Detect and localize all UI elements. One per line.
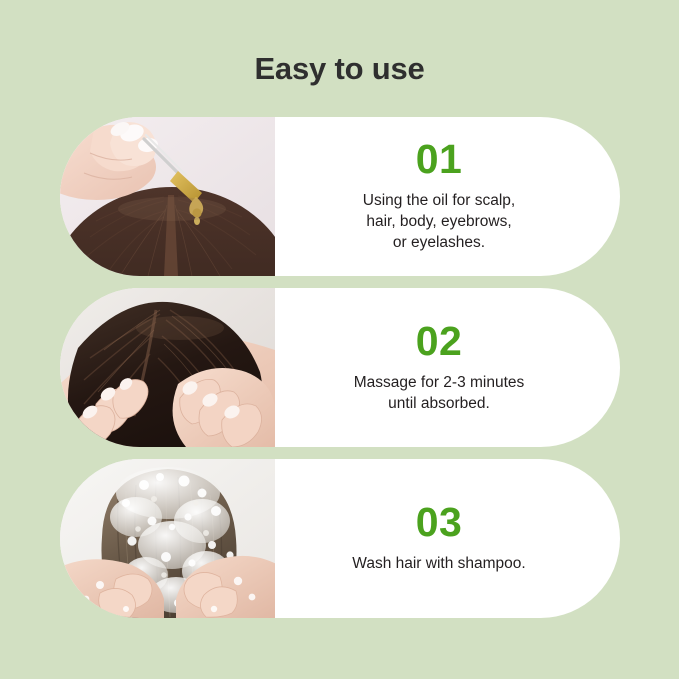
steps-list: 01 Using the oil for scalp, hair, body, … xyxy=(60,117,620,618)
step-text-03: Wash hair with shampoo. xyxy=(352,554,525,575)
step-photo-01 xyxy=(60,117,275,276)
step-photo-02 xyxy=(60,288,275,447)
step-body-02: 02 Massage for 2-3 minutes until absorbe… xyxy=(275,288,620,447)
step-text-02: Massage for 2-3 minutes until absorbed. xyxy=(354,373,525,415)
step-photo-03 xyxy=(60,459,275,618)
page-title: Easy to use xyxy=(254,52,424,86)
step-body-01: 01 Using the oil for scalp, hair, body, … xyxy=(275,117,620,276)
step-text-01: Using the oil for scalp, hair, body, eye… xyxy=(363,191,516,253)
step-card-01: 01 Using the oil for scalp, hair, body, … xyxy=(60,117,620,276)
step-body-03: 03 Wash hair with shampoo. xyxy=(275,459,620,618)
easy-to-use-infographic: Easy to use xyxy=(0,0,679,679)
step-number-03: 03 xyxy=(416,502,463,543)
step-card-03: 03 Wash hair with shampoo. xyxy=(60,459,620,618)
step-card-02: 02 Massage for 2-3 minutes until absorbe… xyxy=(60,288,620,447)
step-number-02: 02 xyxy=(416,321,463,362)
step-number-01: 01 xyxy=(416,139,463,180)
